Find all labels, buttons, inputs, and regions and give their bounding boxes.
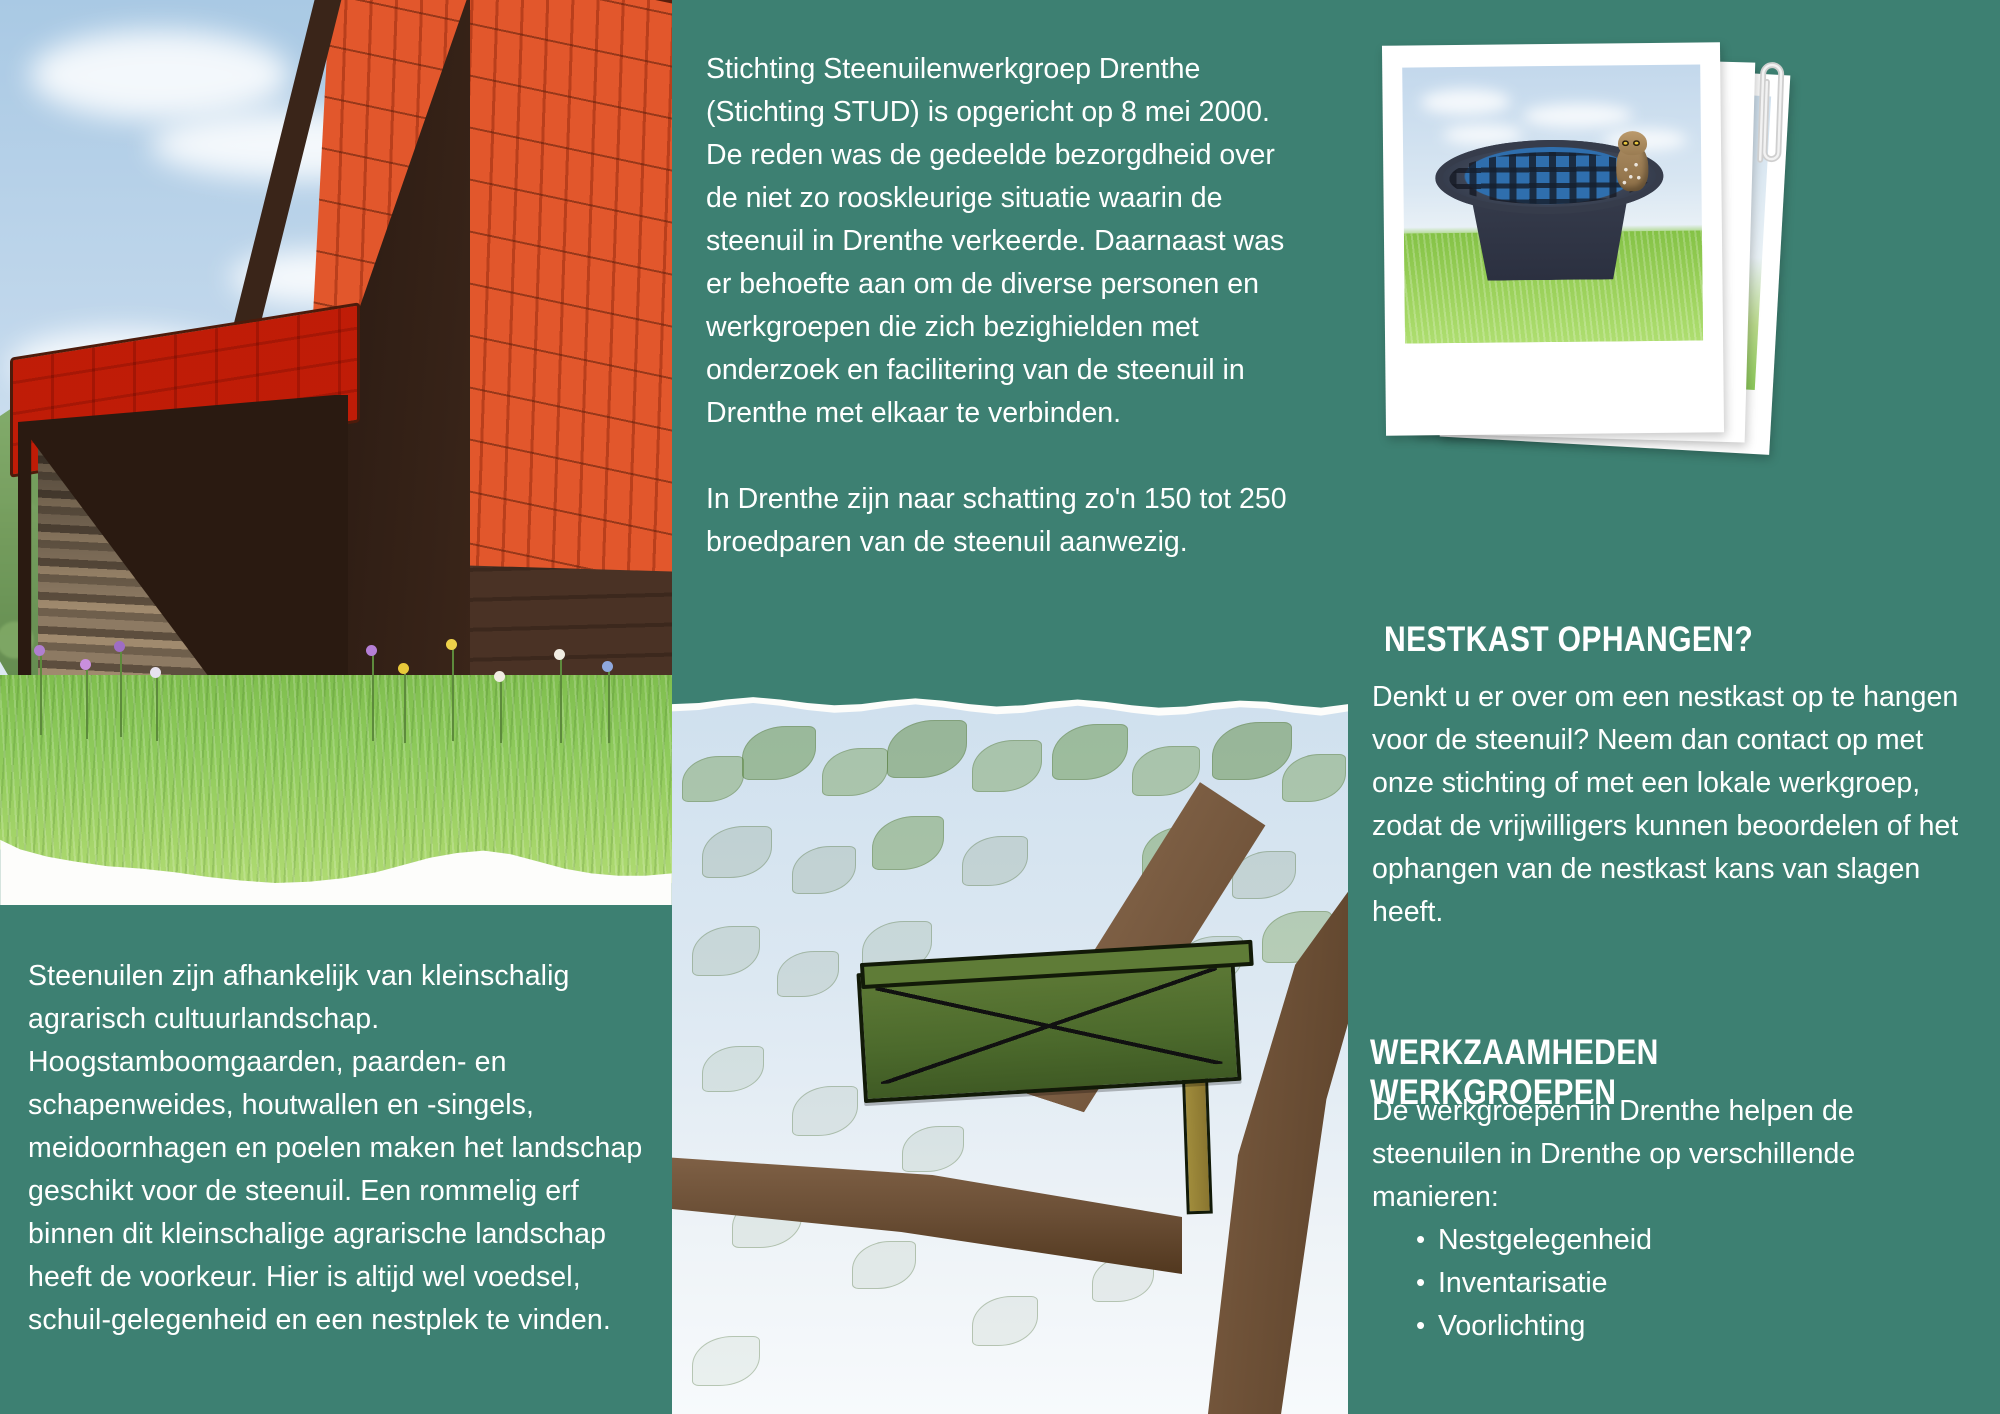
heading-nestkast-ophangen: NESTKAST OPHANGEN? (1384, 620, 1753, 660)
werkzaamheden-list: Nestgelegenheid Inventarisatie Voorlicht… (1372, 1219, 1972, 1348)
left-column: Steenuilen zijn afhankelijk van kleinsch… (0, 0, 672, 1414)
middle-body-text: Stichting Steenuilenwerkgroep Drenthe (S… (706, 48, 1306, 564)
polaroid-photo-stack (1380, 40, 1840, 460)
left-body-text: Steenuilen zijn afhankelijk van kleinsch… (28, 955, 648, 1342)
list-item: Nestgelegenheid (1372, 1219, 1972, 1262)
body-nestkast-ophangen: Denkt u er over om een nestkast op te ha… (1372, 676, 1972, 934)
polaroid-front (1382, 42, 1724, 436)
middle-paragraph-2: In Drenthe zijn naar schatting zo'n 150 … (706, 478, 1306, 564)
list-item: Inventarisatie (1372, 1262, 1972, 1305)
list-item: Voorlichting (1372, 1305, 1972, 1348)
nestbox (856, 951, 1241, 1103)
wildflowers (0, 615, 672, 785)
owl-eye-right (1633, 140, 1640, 146)
body-werkzaamheden: De werkgroepen in Drenthe helpen de stee… (1372, 1090, 1972, 1348)
right-column: NESTKAST OPHANGEN? Denkt u er over om ee… (1348, 0, 2000, 1414)
paperclip-icon (1750, 47, 1788, 166)
woodshed-photo (0, 0, 672, 905)
owl-eye-left (1622, 140, 1629, 146)
middle-column: Stichting Steenuilenwerkgroep Drenthe (S… (672, 0, 1348, 1414)
middle-paragraph-1: Stichting Steenuilenwerkgroep Drenthe (S… (706, 48, 1306, 435)
nestbox-tree-photo (672, 696, 1348, 1414)
brochure-page: Steenuilen zijn afhankelijk van kleinsch… (0, 0, 2000, 1414)
little-owl (1613, 131, 1654, 193)
owl-on-tub-photo (1402, 64, 1703, 343)
cloud-shape (30, 30, 290, 120)
werkzaamheden-intro: De werkgroepen in Drenthe helpen de stee… (1372, 1090, 1972, 1219)
